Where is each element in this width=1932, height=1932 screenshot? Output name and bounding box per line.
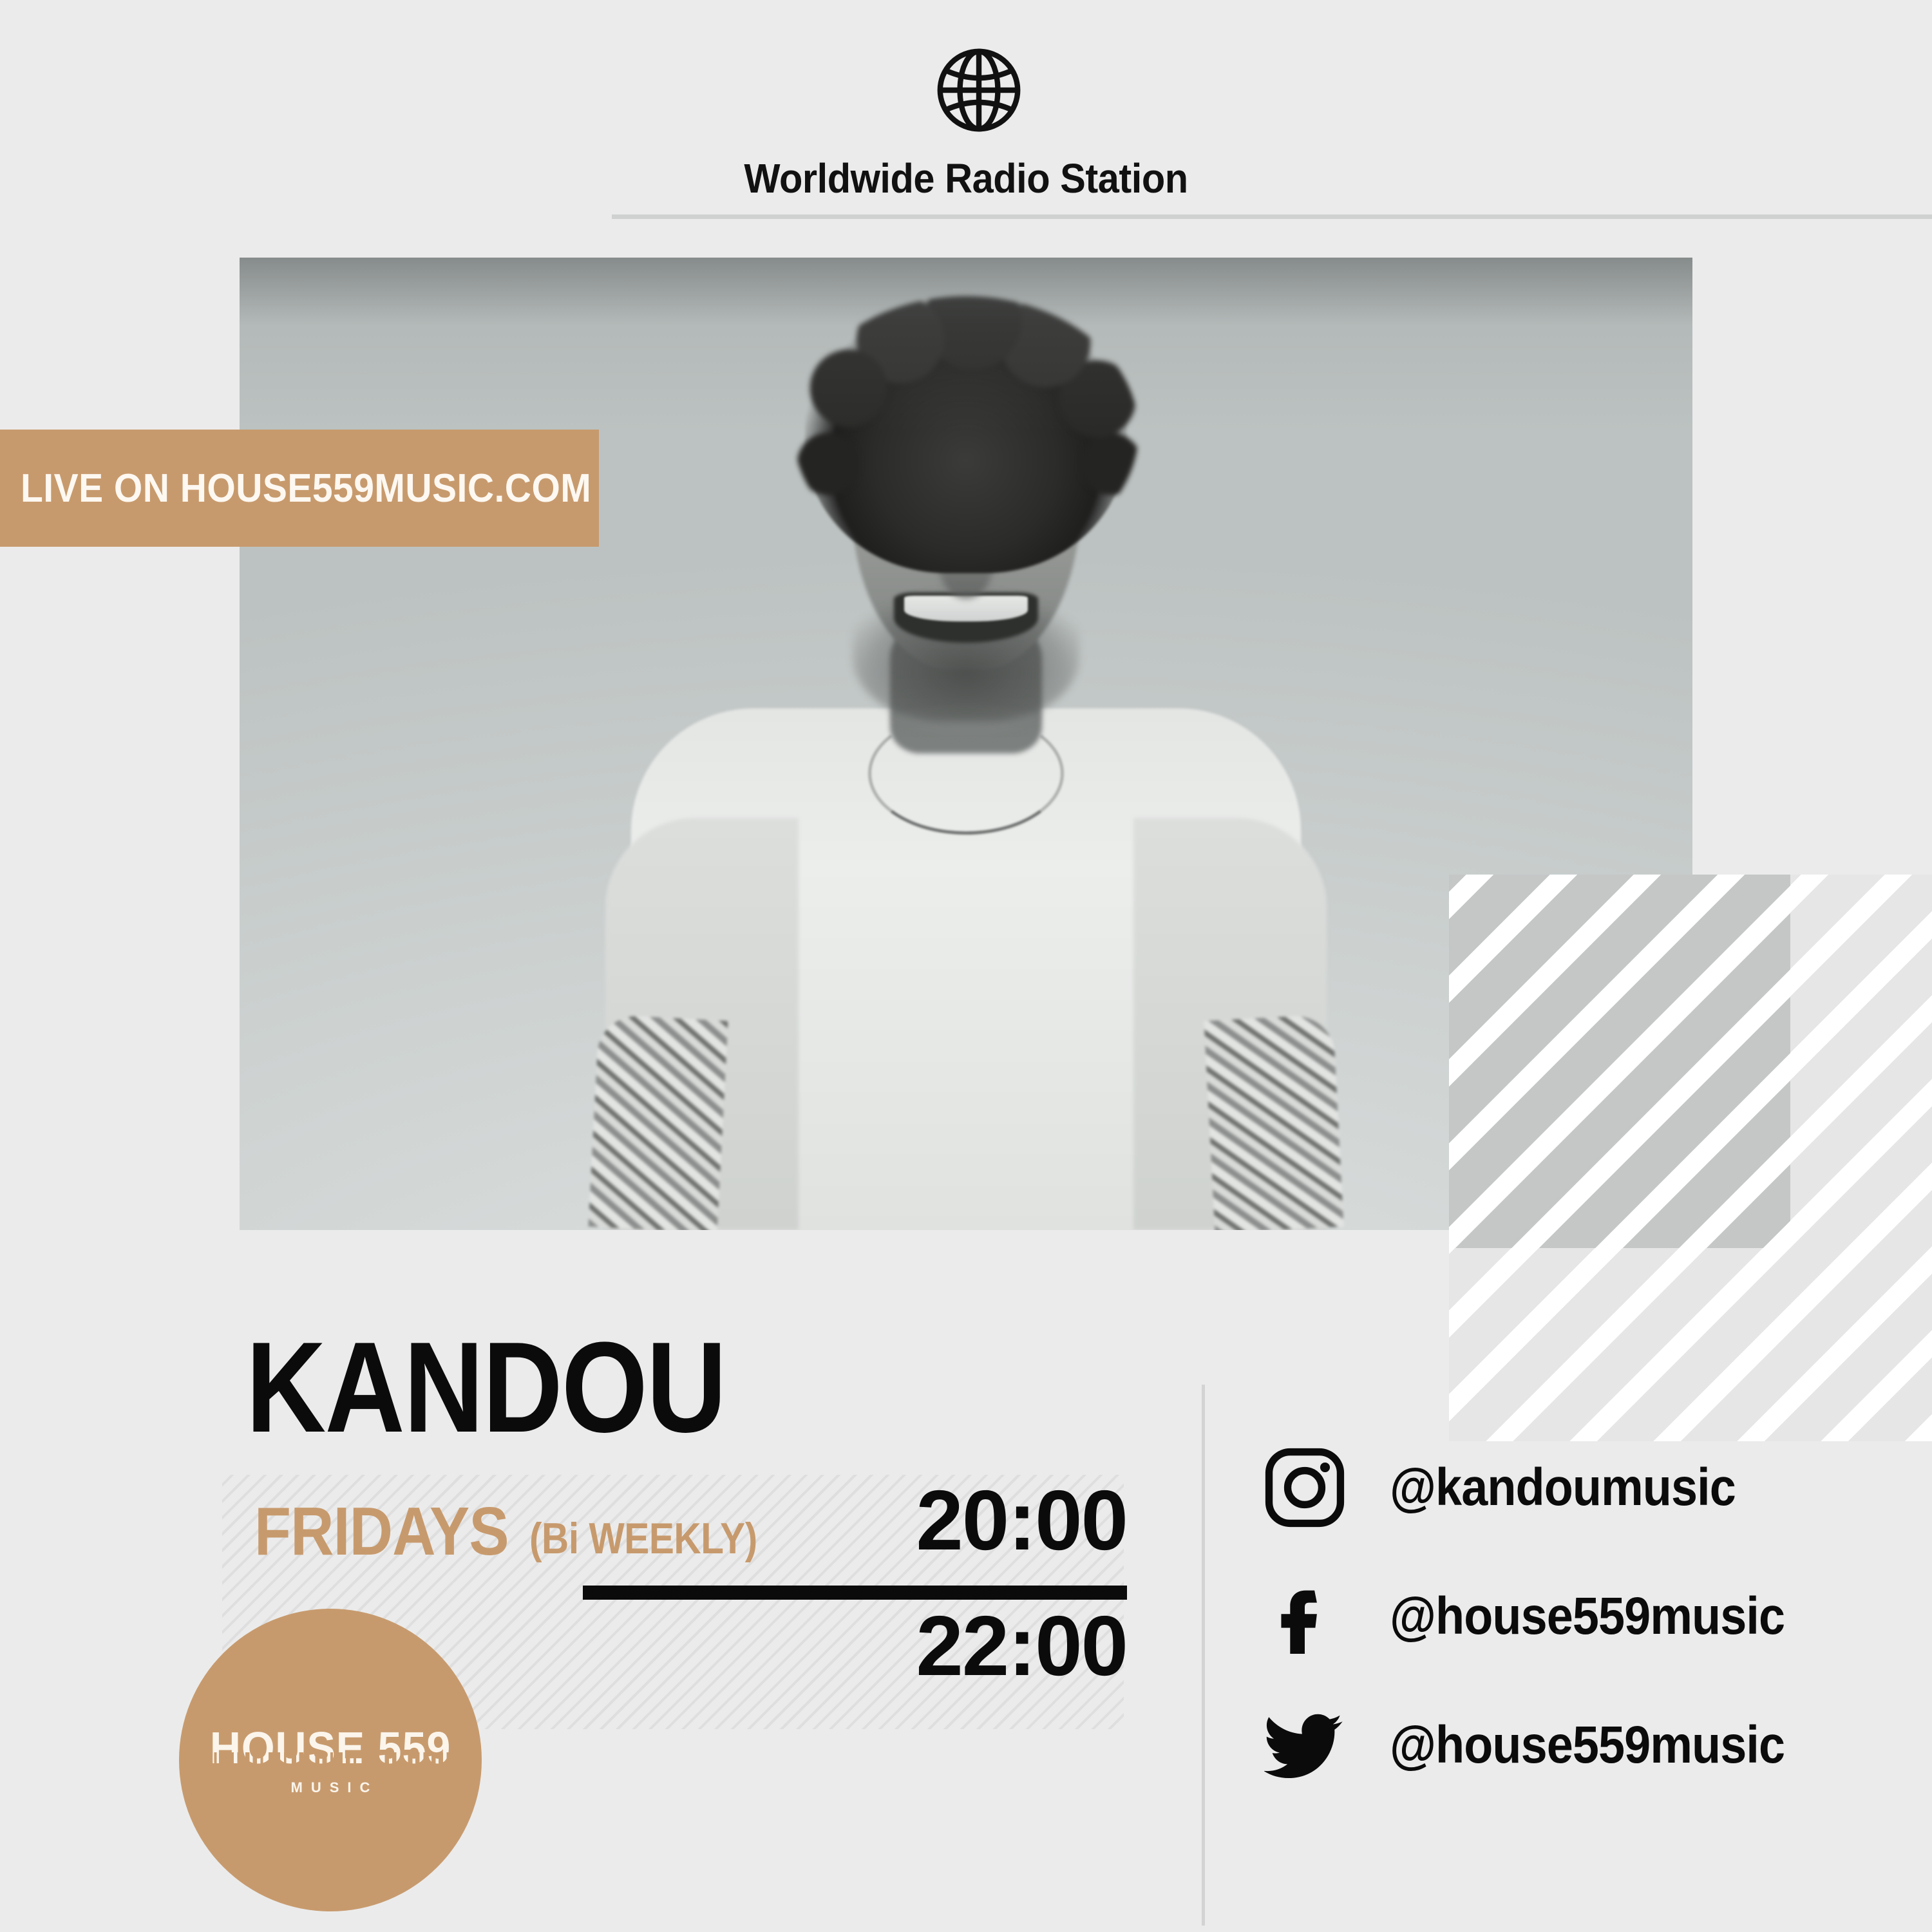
diagonal-stripes-decoration-dark (1449, 875, 1790, 1248)
facebook-icon (1262, 1574, 1347, 1659)
live-banner-text: LIVE ON HOUSE559MUSIC.COM (21, 466, 591, 511)
logo-wordmark: HOUSE 559 (210, 1725, 451, 1770)
artist-name: KANDOU (246, 1323, 726, 1452)
live-banner: LIVE ON HOUSE559MUSIC.COM (0, 430, 599, 547)
section-divider (1202, 1385, 1205, 1926)
header-divider (612, 214, 1932, 219)
social-handle-instagram: @kandoumusic (1390, 1457, 1736, 1518)
house559-logo: HOUSE 559 MUSIC (179, 1609, 482, 1911)
twitter-icon (1262, 1703, 1347, 1788)
logo-subtitle: MUSIC (283, 1781, 379, 1795)
header: Worldwide Radio Station (0, 0, 1932, 219)
schedule-time-divider (583, 1586, 1127, 1600)
social-handle-twitter: @house559music (1390, 1715, 1785, 1776)
schedule-time-end: 22:00 (857, 1604, 1127, 1689)
social-links: @kandoumusic @house559music @house559mus… (1262, 1423, 1932, 1810)
schedule-frequency: (Bi WEEKLY) (529, 1517, 757, 1560)
social-row-instagram[interactable]: @kandoumusic (1262, 1423, 1932, 1552)
globe-icon (934, 45, 1024, 135)
station-name: Worldwide Radio Station (68, 155, 1864, 202)
instagram-icon (1262, 1445, 1347, 1530)
social-row-facebook[interactable]: @house559music (1262, 1552, 1932, 1681)
schedule-day: FRIDAYS (254, 1497, 509, 1566)
schedule-time-start: 20:00 (857, 1478, 1127, 1563)
social-row-twitter[interactable]: @house559music (1262, 1681, 1932, 1810)
social-handle-facebook: @house559music (1390, 1586, 1785, 1647)
